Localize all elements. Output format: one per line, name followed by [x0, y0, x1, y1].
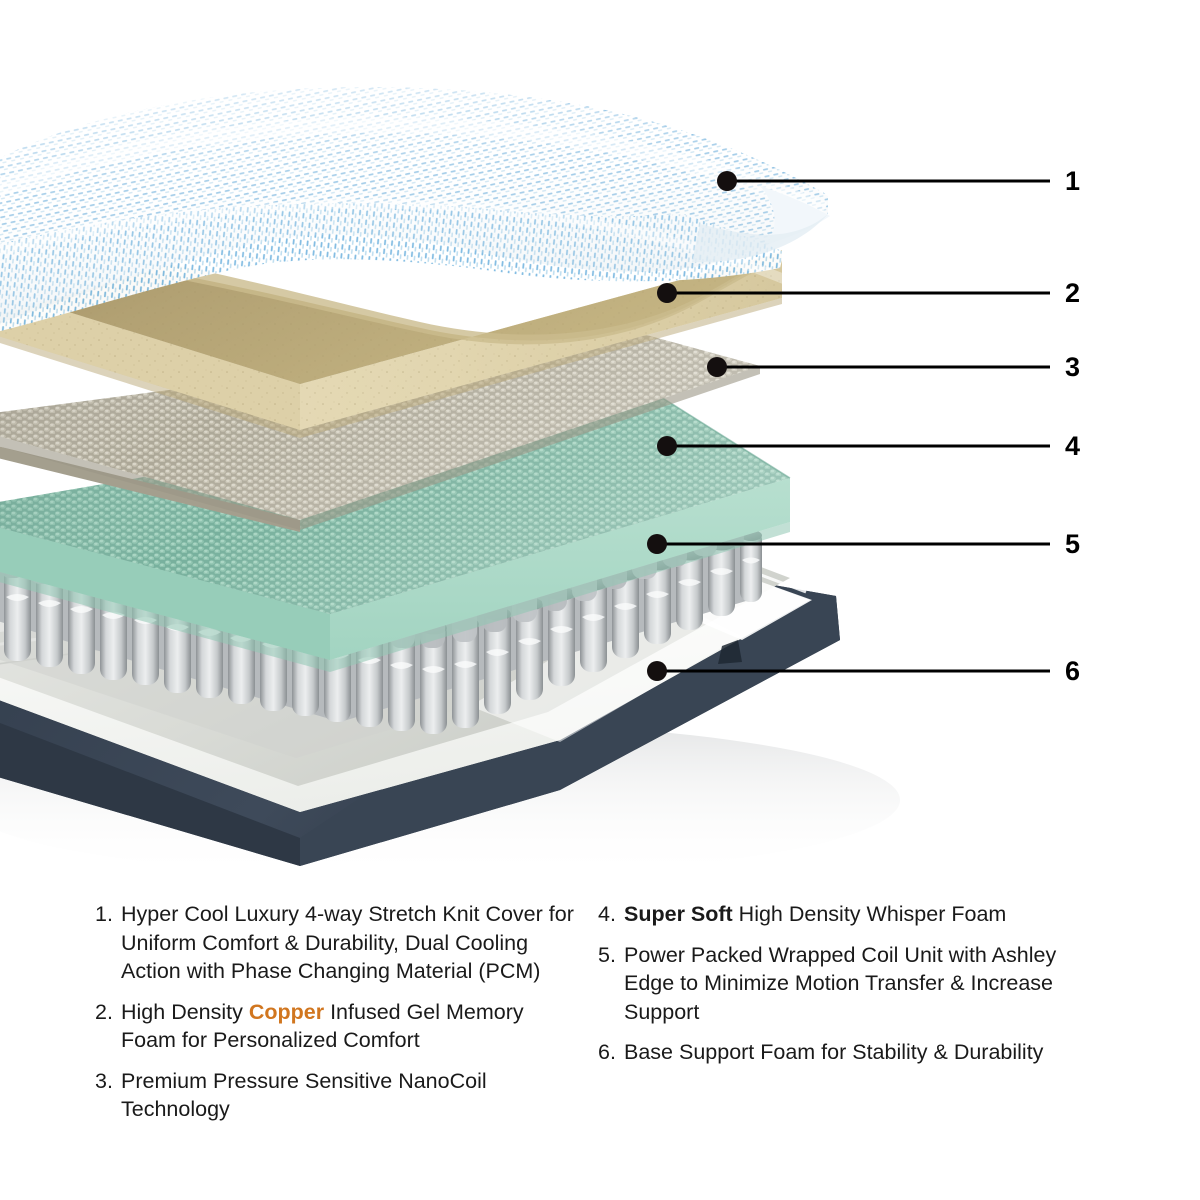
legend-column-right: 4. Super Soft High Density Whisper Foam …	[598, 900, 1098, 1079]
legend-text-3: Premium Pressure Sensitive NanoCoil Tech…	[121, 1067, 575, 1124]
legend: 1. Hyper Cool Luxury 4-way Stretch Knit …	[0, 900, 1200, 1200]
legend-item-3: 3. Premium Pressure Sensitive NanoCoil T…	[95, 1067, 575, 1124]
legend-text-2-copper: Copper	[249, 1000, 324, 1024]
legend-item-2: 2. High Density Copper Infused Gel Memor…	[95, 998, 575, 1055]
legend-text-3-part-0: Premium Pressure Sensitive NanoCoil Tech…	[121, 1069, 487, 1122]
legend-item-1: 1. Hyper Cool Luxury 4-way Stretch Knit …	[95, 900, 575, 986]
callout-dot-3	[707, 357, 727, 377]
callout-dot-2	[657, 283, 677, 303]
legend-item-4: 4. Super Soft High Density Whisper Foam	[598, 900, 1098, 929]
legend-text-2-part-0: High Density	[121, 1000, 249, 1024]
callout-dot-5	[647, 534, 667, 554]
callout-number-3: 3	[1065, 354, 1080, 381]
callout-number-2: 2	[1065, 280, 1080, 307]
legend-text-1-part-0: Hyper Cool Luxury 4-way Stretch Knit Cov…	[121, 902, 574, 983]
legend-text-6-part-0: Base Support Foam for Stability & Durabi…	[624, 1040, 1043, 1064]
legend-number-3: 3.	[95, 1067, 121, 1096]
callout-number-4: 4	[1065, 433, 1080, 460]
legend-number-5: 5.	[598, 941, 624, 970]
callout-number-5: 5	[1065, 531, 1080, 558]
legend-text-4-part-1: High Density Whisper Foam	[733, 902, 1007, 926]
callout-dot-6	[647, 661, 667, 681]
legend-text-1: Hyper Cool Luxury 4-way Stretch Knit Cov…	[121, 900, 575, 986]
legend-text-6: Base Support Foam for Stability & Durabi…	[624, 1038, 1098, 1067]
callout-number-1: 1	[1065, 168, 1080, 195]
legend-text-2: High Density Copper Infused Gel Memory F…	[121, 998, 575, 1055]
callout-number-6: 6	[1065, 658, 1080, 685]
legend-text-4: Super Soft High Density Whisper Foam	[624, 900, 1098, 929]
legend-text-5-part-0: Power Packed Wrapped Coil Unit with Ashl…	[624, 943, 1056, 1024]
legend-number-1: 1.	[95, 900, 121, 929]
legend-number-2: 2.	[95, 998, 121, 1027]
legend-item-6: 6. Base Support Foam for Stability & Dur…	[598, 1038, 1098, 1067]
callout-dot-4	[657, 436, 677, 456]
legend-column-left: 1. Hyper Cool Luxury 4-way Stretch Knit …	[95, 900, 575, 1136]
legend-number-6: 6.	[598, 1038, 624, 1067]
legend-item-5: 5. Power Packed Wrapped Coil Unit with A…	[598, 941, 1098, 1027]
callout-dot-1	[717, 171, 737, 191]
legend-number-4: 4.	[598, 900, 624, 929]
legend-text-5: Power Packed Wrapped Coil Unit with Ashl…	[624, 941, 1098, 1027]
mattress-layer-infographic: 1 2 3 4 5 6 1. Hyper Cool Luxury 4-way S…	[0, 0, 1200, 1200]
mattress-diagram: 1 2 3 4 5 6	[0, 0, 1200, 890]
legend-text-4-bold: Super Soft	[624, 902, 733, 926]
